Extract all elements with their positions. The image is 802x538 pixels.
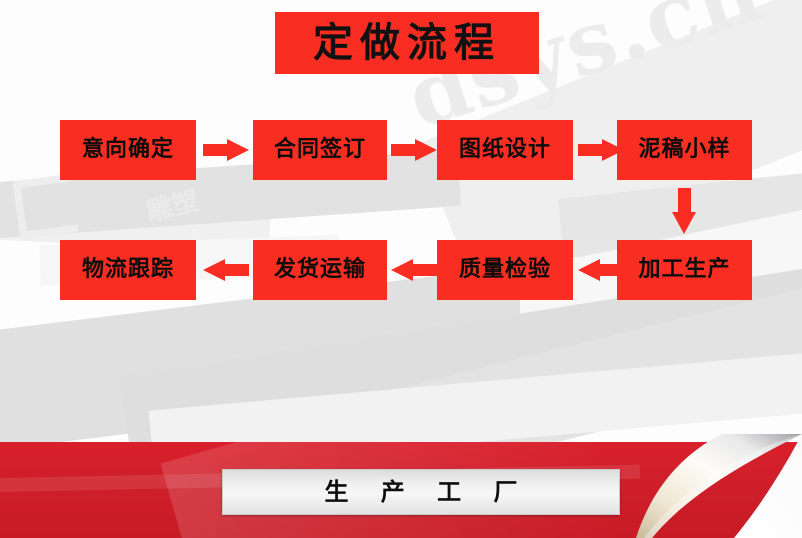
step-label: 质量检验 xyxy=(459,259,551,281)
step-logistics-tracking[interactable]: 物流跟踪 xyxy=(60,240,196,300)
arrow-head xyxy=(672,212,696,234)
footer-plate: 生 产 工 厂 xyxy=(222,469,620,515)
arrow-shaft xyxy=(391,144,417,156)
arrow-down-icon xyxy=(672,188,696,234)
page-curl-icon xyxy=(630,434,802,538)
arrow-head xyxy=(578,259,600,281)
arrow-shaft xyxy=(598,264,624,276)
arrow-right-icon-3 xyxy=(578,139,624,161)
step-label: 加工生产 xyxy=(638,259,730,281)
arrow-head xyxy=(415,139,437,161)
arrow-left-icon-2 xyxy=(391,259,437,281)
arrow-right-icon-2 xyxy=(391,139,437,161)
step-drawing-design[interactable]: 图纸设计 xyxy=(437,120,573,180)
step-contract-sign[interactable]: 合同签订 xyxy=(253,120,387,180)
arrow-head xyxy=(602,139,624,161)
slide-canvas: 匚 dsys.cn 雕塑 定做流程 意向确定 合同签订 图纸设计 泥稿小样 物流… xyxy=(0,0,802,538)
step-shipping-transport[interactable]: 发货运输 xyxy=(253,240,387,300)
arrow-shaft xyxy=(203,144,229,156)
step-processing-production[interactable]: 加工生产 xyxy=(617,240,752,300)
step-quality-inspection[interactable]: 质量检验 xyxy=(437,240,573,300)
step-clay-sample[interactable]: 泥稿小样 xyxy=(617,120,752,180)
arrow-head xyxy=(391,259,413,281)
page-title: 定做流程 xyxy=(313,23,501,63)
step-label: 发货运输 xyxy=(274,259,366,281)
step-label: 意向确定 xyxy=(82,139,174,161)
arrow-shaft xyxy=(223,264,249,276)
step-label: 图纸设计 xyxy=(459,139,551,161)
step-intent-confirm[interactable]: 意向确定 xyxy=(60,120,196,180)
step-label: 物流跟踪 xyxy=(82,259,174,281)
arrow-right-icon-1 xyxy=(203,139,249,161)
arrow-head xyxy=(203,259,225,281)
page-title-banner: 定做流程 xyxy=(275,12,539,74)
step-label: 泥稿小样 xyxy=(638,139,730,161)
arrow-shaft xyxy=(578,144,604,156)
arrow-head xyxy=(227,139,249,161)
footer-label: 生 产 工 厂 xyxy=(312,480,529,504)
arrow-left-icon-1 xyxy=(203,259,249,281)
step-label: 合同签订 xyxy=(274,139,366,161)
arrow-shaft xyxy=(678,188,691,214)
arrow-left-icon-3 xyxy=(578,259,624,281)
arrow-shaft xyxy=(411,264,437,276)
